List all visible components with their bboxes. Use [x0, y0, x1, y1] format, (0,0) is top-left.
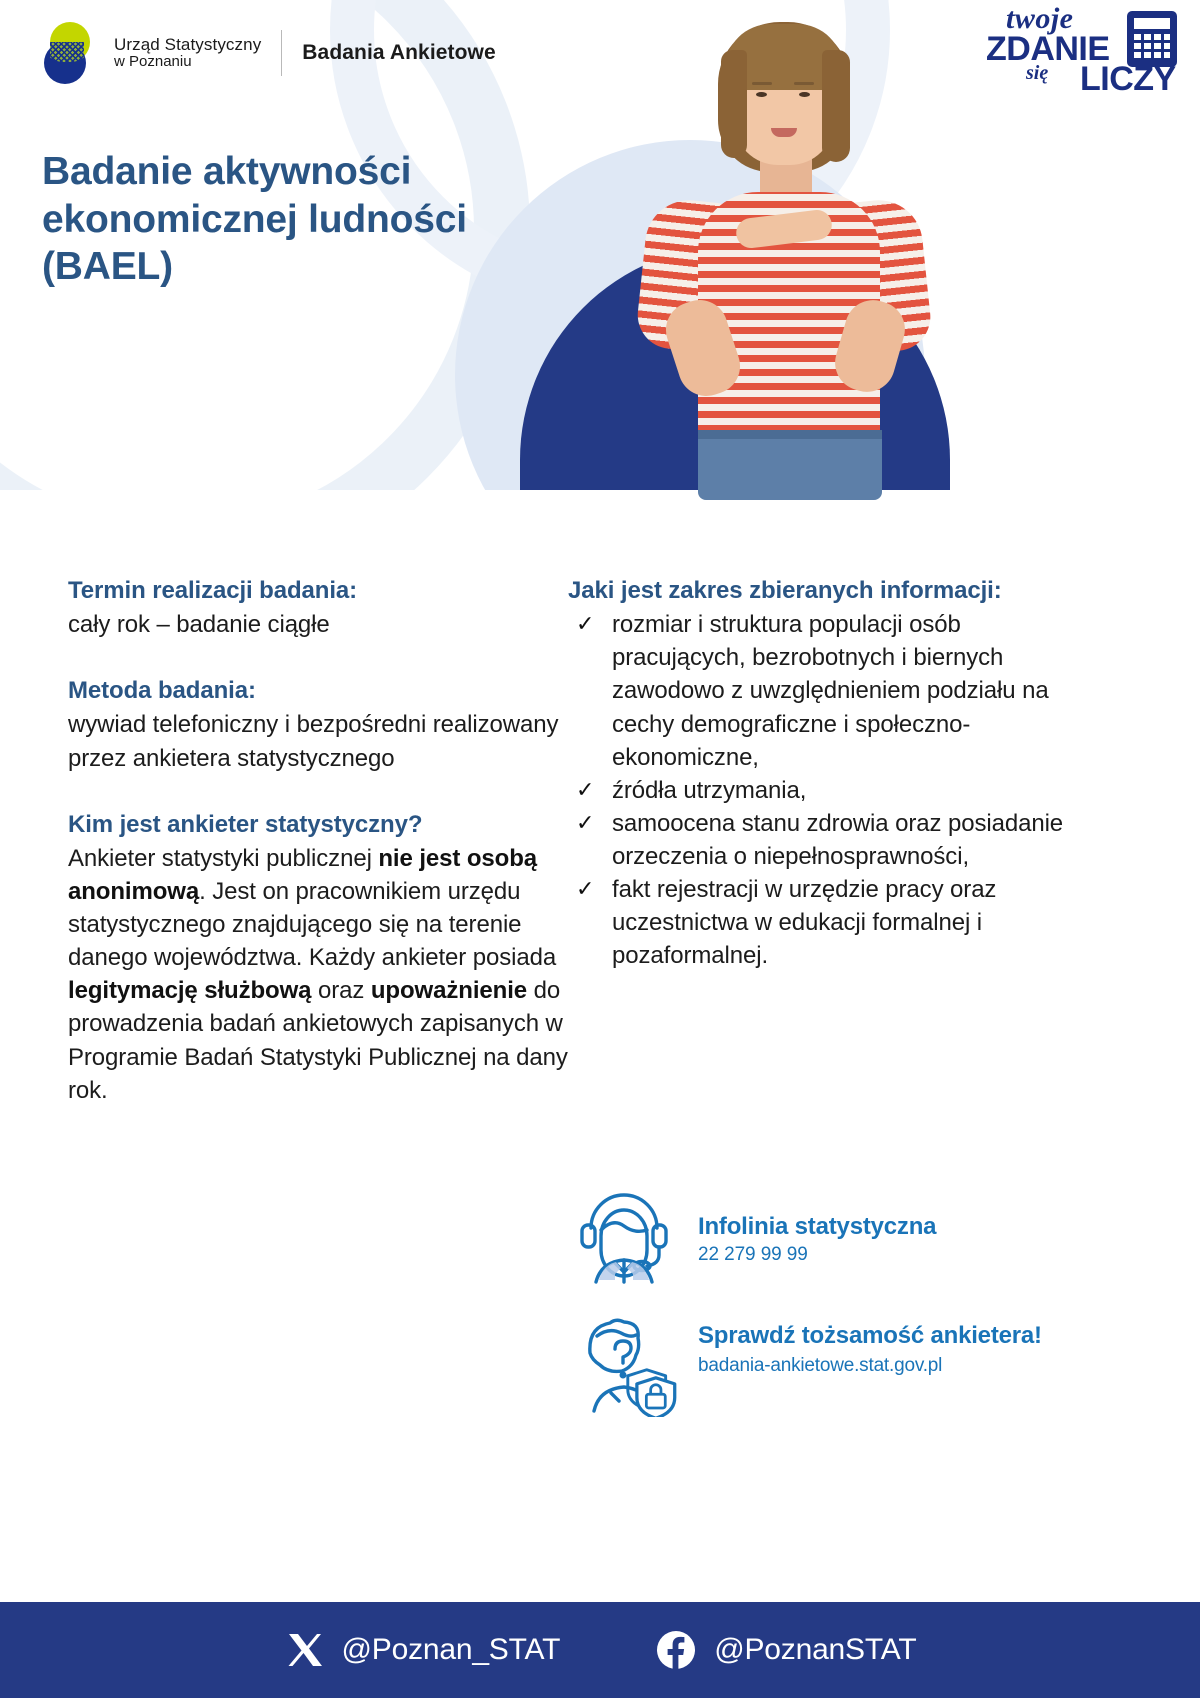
list-item: ✓ źródła utrzymania, — [568, 774, 1080, 807]
list-item-label: fakt rejestracji w urzędzie pracy oraz u… — [612, 876, 996, 969]
list-item: ✓ rozmiar i struktura populacji osób pra… — [568, 608, 1080, 774]
section-termin: Termin realizacji badania: cały rok – ba… — [68, 575, 568, 641]
scope-list: ✓ rozmiar i struktura populacji osób pra… — [568, 608, 1080, 972]
right-column: Jaki jest zakres zbieranych informacji: … — [568, 575, 1080, 972]
x-handle: @Poznan_STAT — [342, 1633, 561, 1667]
verify-url[interactable]: badania-ankietowe.stat.gov.pl — [698, 1355, 1042, 1377]
hero-bottom-strip — [0, 490, 1200, 545]
left-column: Termin realizacji badania: cały rok – ba… — [68, 575, 568, 1107]
list-item: ✓ samoocena stanu zdrowia oraz posiadani… — [568, 807, 1080, 873]
verify-title: Sprawdź tożsamość ankietera! — [698, 1321, 1042, 1350]
section-body: cały rok – badanie ciągłe — [68, 608, 568, 641]
branding-tagline: Badania Ankietowe — [302, 41, 495, 65]
footer-bar: @Poznan_STAT @PoznanSTAT — [0, 1602, 1200, 1698]
fb-handle: @PoznanSTAT — [714, 1633, 916, 1667]
branding-divider — [281, 30, 282, 76]
hotline-number[interactable]: 22 279 99 99 — [698, 1244, 936, 1266]
organization-name: Urząd Statystyczny w Poznaniu — [114, 35, 261, 71]
check-icon: ✓ — [576, 609, 594, 639]
page-title: Badanie aktywności ekonomicznej ludności… — [42, 148, 512, 291]
org-line-2: w Poznaniu — [114, 54, 261, 71]
org-line-1: Urząd Statystyczny — [114, 35, 261, 54]
statistical-office-logo-icon — [42, 22, 94, 84]
verify-text: Sprawdź tożsamość ankietera! badania-ank… — [698, 1307, 1042, 1377]
hotline-title: Infolinia statystyczna — [698, 1212, 936, 1241]
check-icon: ✓ — [576, 775, 594, 805]
section-body: wywiad telefoniczny i bezpośredni realiz… — [68, 708, 568, 774]
contact-hotline: Infolinia statystyczna 22 279 99 99 — [568, 1178, 1088, 1293]
slogan-sie: się — [1026, 62, 1048, 85]
section-body: Ankieter statystyki publicznej nie jest … — [68, 842, 568, 1107]
check-icon: ✓ — [576, 874, 594, 904]
scope-heading: Jaki jest zakres zbieranych informacji: — [568, 575, 1080, 606]
contact-block: Infolinia statystyczna 22 279 99 99 — [568, 1178, 1088, 1436]
calculator-icon — [1126, 10, 1178, 68]
facebook-icon — [656, 1630, 696, 1670]
poster-root: Urząd Statystyczny w Poznaniu Badania An… — [0, 0, 1200, 1698]
social-x[interactable]: @Poznan_STAT — [284, 1630, 561, 1670]
hotline-text: Infolinia statystyczna 22 279 99 99 — [698, 1178, 936, 1266]
identity-check-icon — [568, 1307, 680, 1422]
branding-row: Urząd Statystyczny w Poznaniu Badania An… — [42, 22, 496, 84]
section-heading: Metoda badania: — [68, 675, 568, 706]
list-item-label: samoocena stanu zdrowia oraz posiadanie … — [612, 810, 1063, 870]
hero-section: Urząd Statystyczny w Poznaniu Badania An… — [0, 0, 1200, 545]
social-facebook[interactable]: @PoznanSTAT — [656, 1630, 916, 1670]
section-metoda: Metoda badania: wywiad telefoniczny i be… — [68, 675, 568, 774]
section-ankieter: Kim jest ankieter statystyczny? Ankieter… — [68, 809, 568, 1107]
section-heading: Termin realizacji badania: — [68, 575, 568, 606]
headset-operator-icon — [568, 1178, 680, 1293]
list-item-label: źródła utrzymania, — [612, 777, 806, 804]
x-twitter-icon — [284, 1630, 324, 1670]
section-heading: Kim jest ankieter statystyczny? — [68, 809, 568, 840]
list-item: ✓ fakt rejestracji w urzędzie pracy oraz… — [568, 873, 1080, 972]
model-photo — [522, 0, 950, 497]
slogan-logo: twoje ZDANIE się LICZY — [984, 6, 1174, 98]
list-item-label: rozmiar i struktura populacji osób pracu… — [612, 611, 1049, 770]
contact-verify: Sprawdź tożsamość ankietera! badania-ank… — [568, 1307, 1088, 1422]
check-icon: ✓ — [576, 808, 594, 838]
